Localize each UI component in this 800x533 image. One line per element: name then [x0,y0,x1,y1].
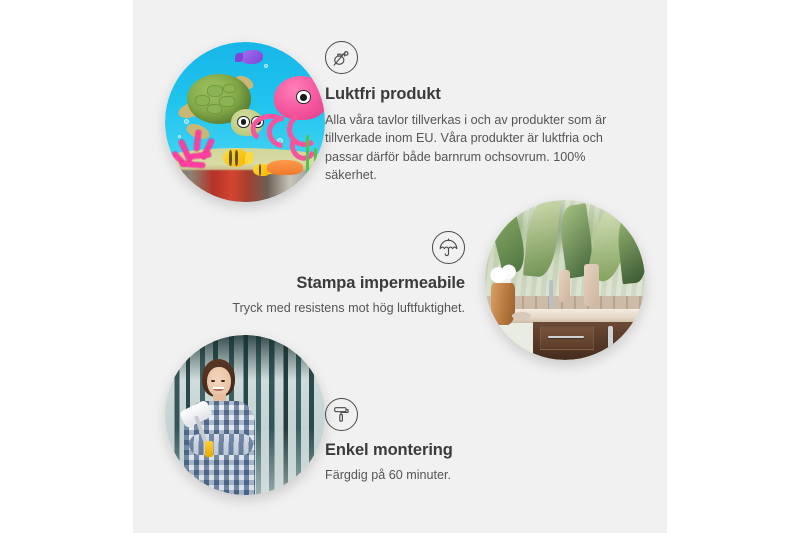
feature-waterproof-description: Tryck med resistens mot hög luftfuktighe… [173,299,465,318]
feature-easy-install: Enkel montering Färgdig på 60 minuter. [133,330,667,533]
feature-odourless-description: Alla våra tavlor tillverkas i och av pro… [325,111,625,185]
feature-odourless-title: Luktfri produkt [325,84,625,105]
woman-with-roller-illustration [165,335,325,495]
umbrella-icon [432,231,465,264]
feature-easy-install-description: Färgdig på 60 minuter. [325,466,625,485]
no-odour-perfume-bottle-icon [325,41,358,74]
feature-odourless: Luktfri produkt Alla våra tavlor tillver… [133,0,667,200]
feature-waterproof-text: Stampa impermeabile Tryck med resistens … [173,231,465,317]
crab [267,160,302,174]
infographic-panel: Luktfri produkt Alla våra tavlor tillver… [133,0,667,533]
underwater-illustration [165,42,325,202]
paint-roller-icon [325,398,358,431]
woman-paint-roller-forest-circle-photo [165,335,325,495]
feature-waterproof-title: Stampa impermeabile [173,273,465,294]
feature-easy-install-title: Enkel montering [325,440,625,461]
purple-fish [240,50,262,64]
coral [171,128,225,176]
feature-easy-install-text: Enkel montering Färgdig på 60 minuter. [325,398,625,484]
gold-vase [491,283,515,325]
feature-odourless-text: Luktfri produkt Alla våra tavlor tillver… [325,41,625,185]
underwater-cartoon-circle-photo [165,42,325,202]
